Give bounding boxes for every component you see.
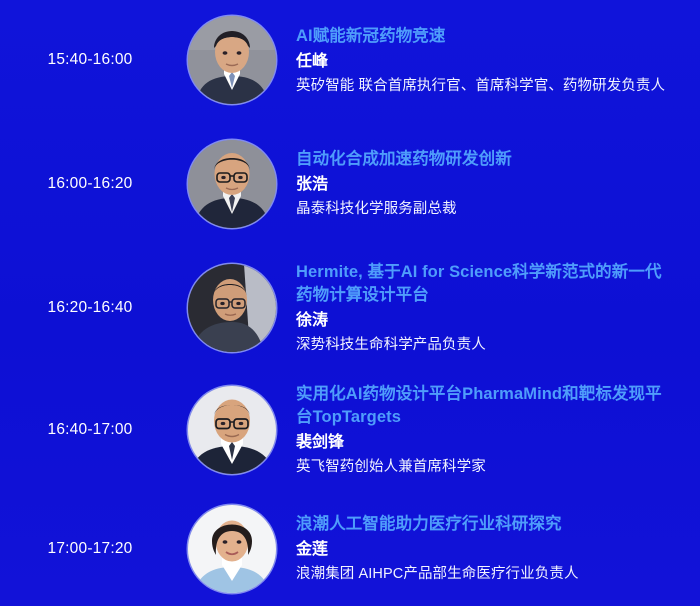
talk-title: 浪潮人工智能助力医疗行业科研探究 <box>296 513 676 536</box>
speaker-portrait-icon <box>188 140 276 228</box>
speaker-portrait-icon <box>188 264 276 352</box>
session-info: Hermite, 基于AI for Science科学新范式的新一代药物计算设计… <box>284 261 690 355</box>
speaker-name: 金莲 <box>296 539 690 561</box>
talk-title: AI赋能新冠药物竞速 <box>296 25 676 48</box>
speaker-title: 深势科技生命科学产品负责人 <box>296 335 690 355</box>
avatar <box>180 16 284 104</box>
session-time: 15:40-16:00 <box>0 51 180 69</box>
session-row[interactable]: 17:00-17:20 浪潮人工智能助力医疗行业科研探究 金莲 浪潮集团 <box>0 491 700 606</box>
speaker-name: 任峰 <box>296 51 690 73</box>
session-row[interactable]: 16:20-16:40 Hermite, 基于AI <box>0 247 700 369</box>
speaker-portrait-icon <box>188 505 276 593</box>
speaker-name: 裴剑锋 <box>296 432 690 454</box>
session-time: 16:40-17:00 <box>0 421 180 439</box>
talk-title: 实用化AI药物设计平台PharmaMind和靶标发现平台TopTargets <box>296 383 676 429</box>
session-row[interactable]: 16:40-17:00 实用化 <box>0 369 700 491</box>
session-time: 16:00-16:20 <box>0 175 180 193</box>
speaker-name: 张浩 <box>296 174 690 196</box>
speaker-name: 徐涛 <box>296 310 690 332</box>
speaker-title: 英飞智药创始人兼首席科学家 <box>296 457 690 477</box>
session-info: AI赋能新冠药物竞速 任峰 英矽智能 联合首席执行官、首席科学官、药物研发负责人 <box>284 25 690 96</box>
session-time: 17:00-17:20 <box>0 540 180 558</box>
speaker-title: 晶泰科技化学服务副总裁 <box>296 199 690 219</box>
agenda-schedule-list: 15:40-16:00 AI赋能新冠药物竞速 <box>0 0 700 606</box>
speaker-portrait-icon <box>188 386 276 474</box>
avatar <box>180 140 284 228</box>
session-time: 16:20-16:40 <box>0 299 180 317</box>
avatar <box>180 264 284 352</box>
avatar <box>180 505 284 593</box>
avatar <box>180 386 284 474</box>
session-info: 自动化合成加速药物研发创新 张浩 晶泰科技化学服务副总裁 <box>284 148 690 219</box>
speaker-title: 浪潮集团 AIHPC产品部生命医疗行业负责人 <box>296 564 690 584</box>
session-info: 实用化AI药物设计平台PharmaMind和靶标发现平台TopTargets 裴… <box>284 383 690 477</box>
speaker-title: 英矽智能 联合首席执行官、首席科学官、药物研发负责人 <box>296 76 690 96</box>
session-row[interactable]: 15:40-16:00 AI赋能新冠药物竞速 <box>0 0 700 120</box>
speaker-portrait-icon <box>188 16 276 104</box>
talk-title: Hermite, 基于AI for Science科学新范式的新一代药物计算设计… <box>296 261 676 307</box>
session-info: 浪潮人工智能助力医疗行业科研探究 金莲 浪潮集团 AIHPC产品部生命医疗行业负… <box>284 513 690 584</box>
session-row[interactable]: 16:00-16:20 自动化 <box>0 120 700 247</box>
talk-title: 自动化合成加速药物研发创新 <box>296 148 676 171</box>
